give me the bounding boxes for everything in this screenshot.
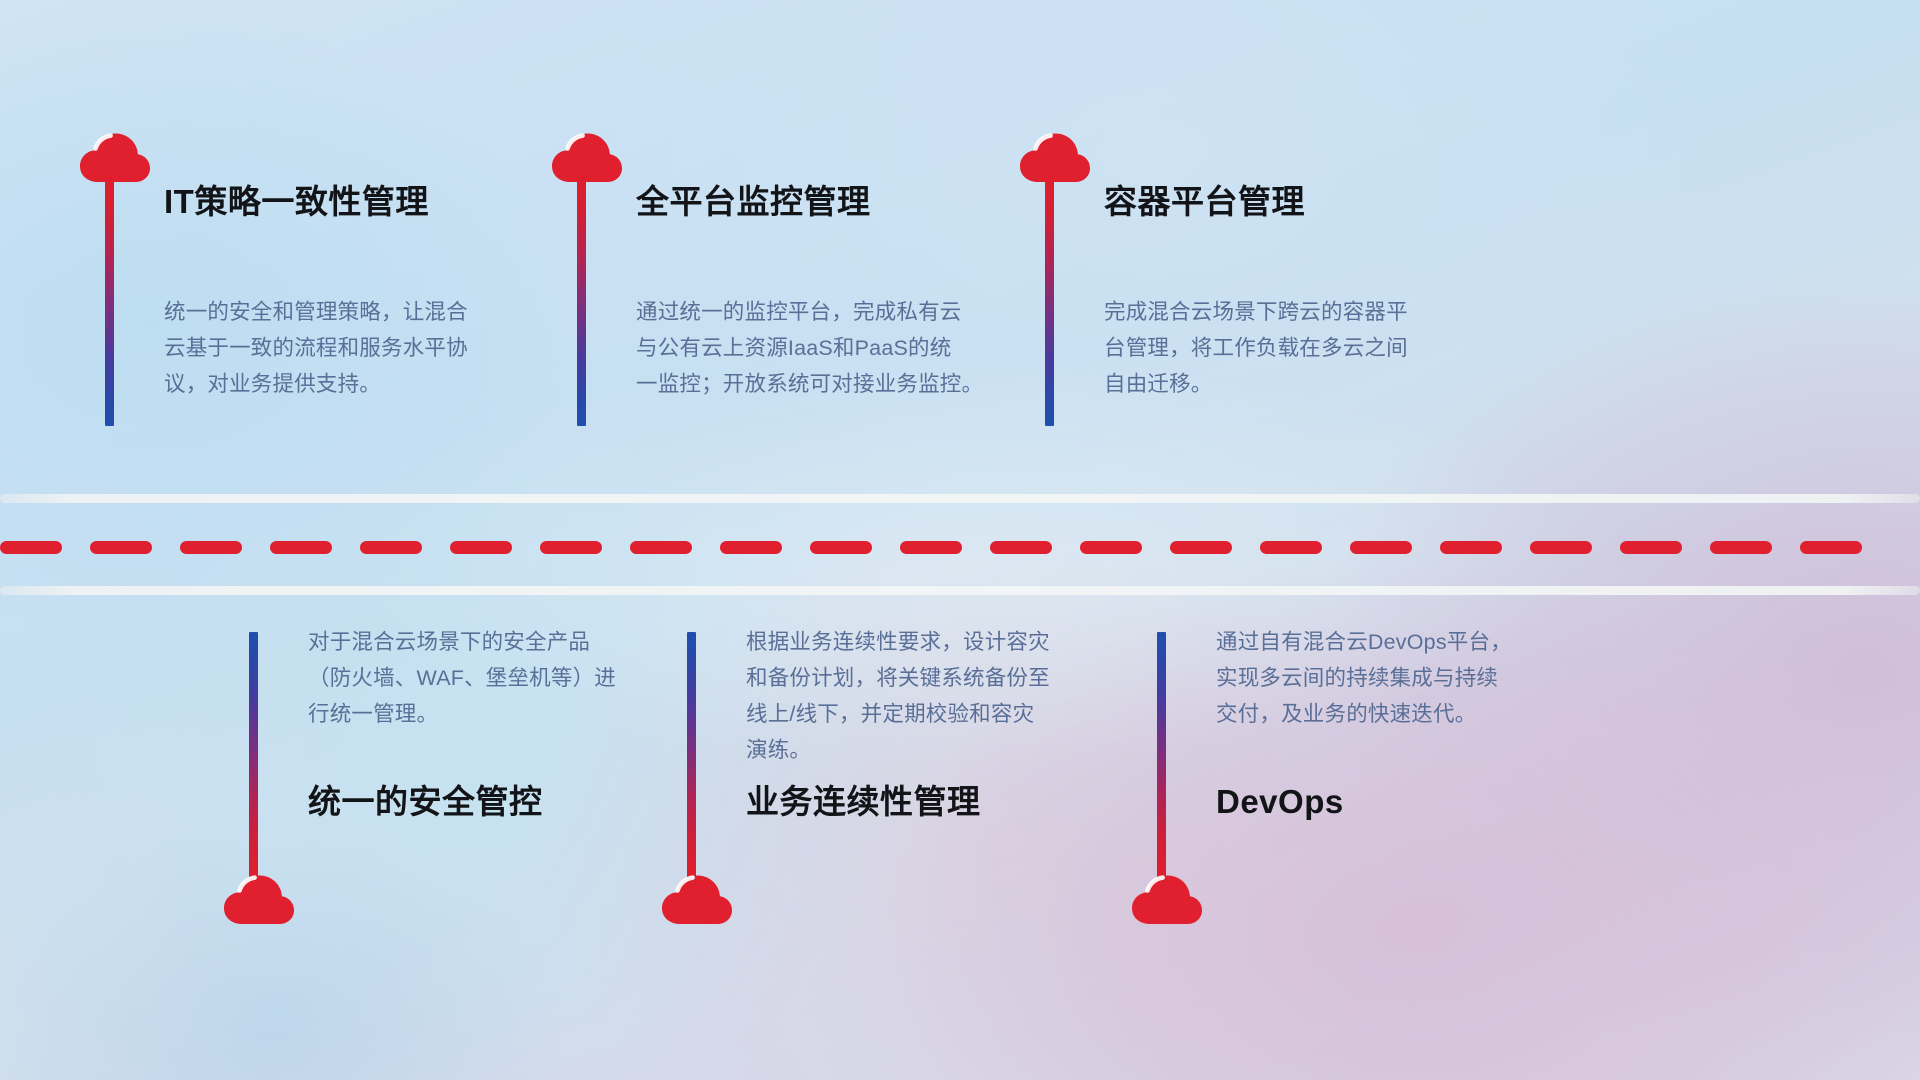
road-dash [450,541,512,554]
road-dash [810,541,872,554]
road-dash [720,541,782,554]
stem-line [1045,176,1054,426]
cloud-icon [1018,132,1092,184]
road-dash [630,541,692,554]
card-heading: 全平台监控管理 [636,184,871,220]
card-heading: 业务连续性管理 [746,784,981,820]
road-dash [1800,541,1862,554]
road-dash [1080,541,1142,554]
road-dash [1350,541,1412,554]
road-dash [1170,541,1232,554]
cloud-icon [550,132,624,184]
road-dash [1530,541,1592,554]
stem-line [249,632,258,882]
card-body: 完成混合云场景下跨云的容器平 台管理，将工作负载在多云之间 自由迁移。 [1104,294,1524,402]
road-dash [270,541,332,554]
road-edge-top-line [0,494,1920,503]
road-dash [0,541,62,554]
cloud-icon [78,132,152,184]
road-edge-bottom-line [0,586,1920,595]
card-heading: DevOps [1216,784,1344,820]
road-dash [180,541,242,554]
card-body: 根据业务连续性要求，设计容灾 和备份计划，将关键系统备份至 线上/线下，并定期校… [746,624,1166,768]
road-dash [990,541,1052,554]
road-dash [360,541,422,554]
cloud-icon [222,874,296,926]
stem-line [1157,632,1166,882]
stem-line [105,176,114,426]
road-dash [1260,541,1322,554]
cloud-icon [1130,874,1204,926]
card-body: 对于混合云场景下的安全产品 （防火墙、WAF、堡垒机等）进 行统一管理。 [308,624,728,732]
card-body: 通过自有混合云DevOps平台， 实现多云间的持续集成与持续 交付，及业务的快速… [1216,624,1636,732]
infographic-canvas: IT策略一致性管理 统一的安全和管理策略，让混合 云基于一致的流程和服务水平协 … [0,0,1920,1080]
card-heading: IT策略一致性管理 [164,184,429,220]
card-body: 通过统一的监控平台，完成私有云 与公有云上资源IaaS和PaaS的统 一监控；开… [636,294,1056,402]
card-heading: 统一的安全管控 [308,784,543,820]
road-dash [1440,541,1502,554]
card-heading: 容器平台管理 [1104,184,1305,220]
cloud-icon [660,874,734,926]
road-dash [540,541,602,554]
road-dash [90,541,152,554]
road-dash [1710,541,1772,554]
road-dash-line [0,540,1920,554]
card-body: 统一的安全和管理策略，让混合 云基于一致的流程和服务水平协 议，对业务提供支持。 [164,294,584,402]
road-dash [1620,541,1682,554]
stem-line [577,176,586,426]
stem-line [687,632,696,882]
road-dash [900,541,962,554]
